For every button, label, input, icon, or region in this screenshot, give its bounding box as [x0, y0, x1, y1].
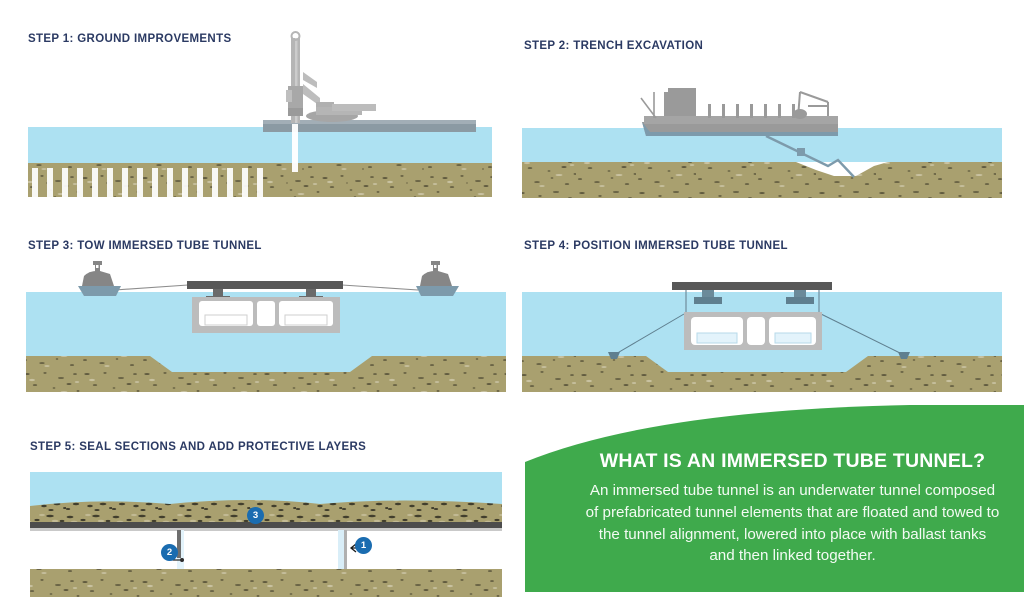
step-5-title: STEP 5: SEAL SECTIONS AND ADD PROTECTIVE…	[30, 441, 366, 453]
tunnel-interior	[30, 531, 502, 569]
tunnel-gallery-center	[747, 317, 765, 345]
pipe-joint	[797, 148, 805, 156]
water-layer	[28, 127, 492, 163]
foundation-layer	[30, 569, 502, 597]
step-4-illustration	[516, 260, 1008, 395]
ballast-tank-right	[775, 333, 811, 343]
infographic-root: STEP 1: GROUND IMPROVEMENTS	[0, 0, 1024, 611]
dredging-vessel	[641, 88, 838, 136]
backfill-protective-layer	[30, 500, 502, 524]
pontoon-beam	[672, 282, 832, 290]
callout-badge-1[interactable]: 1	[355, 537, 372, 554]
green-info-panel: WHAT IS AN IMMERSED TUBE TUNNEL? An imme…	[500, 405, 1024, 595]
tunnel-gallery-center	[257, 301, 275, 326]
ballast-tank-left	[205, 315, 247, 325]
joint-seal-left-dot	[180, 558, 184, 562]
step-5-scene	[20, 468, 512, 601]
ballast-tank-left	[697, 333, 737, 343]
pile-driver-rig	[286, 32, 376, 123]
step-3-illustration	[20, 260, 512, 395]
step-3-scene	[20, 260, 512, 395]
driven-pile	[292, 124, 298, 172]
step-2-scene	[516, 80, 1008, 202]
callout-badge-2[interactable]: 2	[161, 544, 178, 561]
green-panel-text-block: WHAT IS AN IMMERSED TUBE TUNNEL? An imme…	[585, 450, 1000, 567]
pontoon-beam	[187, 281, 343, 289]
tunnel-element	[684, 312, 822, 350]
step-4-scene	[516, 260, 1008, 395]
tunnel-roof-underside	[30, 528, 502, 531]
callout-badge-3[interactable]: 3	[247, 507, 264, 524]
tunnel-roof-slab	[30, 522, 502, 528]
joint-seal-right-gasket	[344, 530, 347, 570]
step-5-illustration	[20, 468, 512, 601]
green-panel-body: An immersed tube tunnel is an underwater…	[585, 480, 1000, 566]
green-panel-heading: WHAT IS AN IMMERSED TUBE TUNNEL?	[585, 450, 1000, 473]
tugboat-right	[416, 261, 459, 296]
step-1-scene	[20, 28, 500, 200]
step-2-title: STEP 2: TRENCH EXCAVATION	[524, 40, 703, 52]
step-1-illustration	[20, 28, 500, 200]
tugboat-left	[78, 261, 121, 296]
step-4-title: STEP 4: POSITION IMMERSED TUBE TUNNEL	[524, 240, 788, 252]
step-2-illustration	[516, 80, 1008, 202]
step-3-title: STEP 3: TOW IMMERSED TUBE TUNNEL	[28, 240, 262, 252]
deck-hull	[644, 116, 838, 124]
seabed-layer	[522, 162, 1002, 198]
ballast-tank-right	[285, 315, 327, 325]
floating-tunnel-element	[192, 297, 340, 333]
